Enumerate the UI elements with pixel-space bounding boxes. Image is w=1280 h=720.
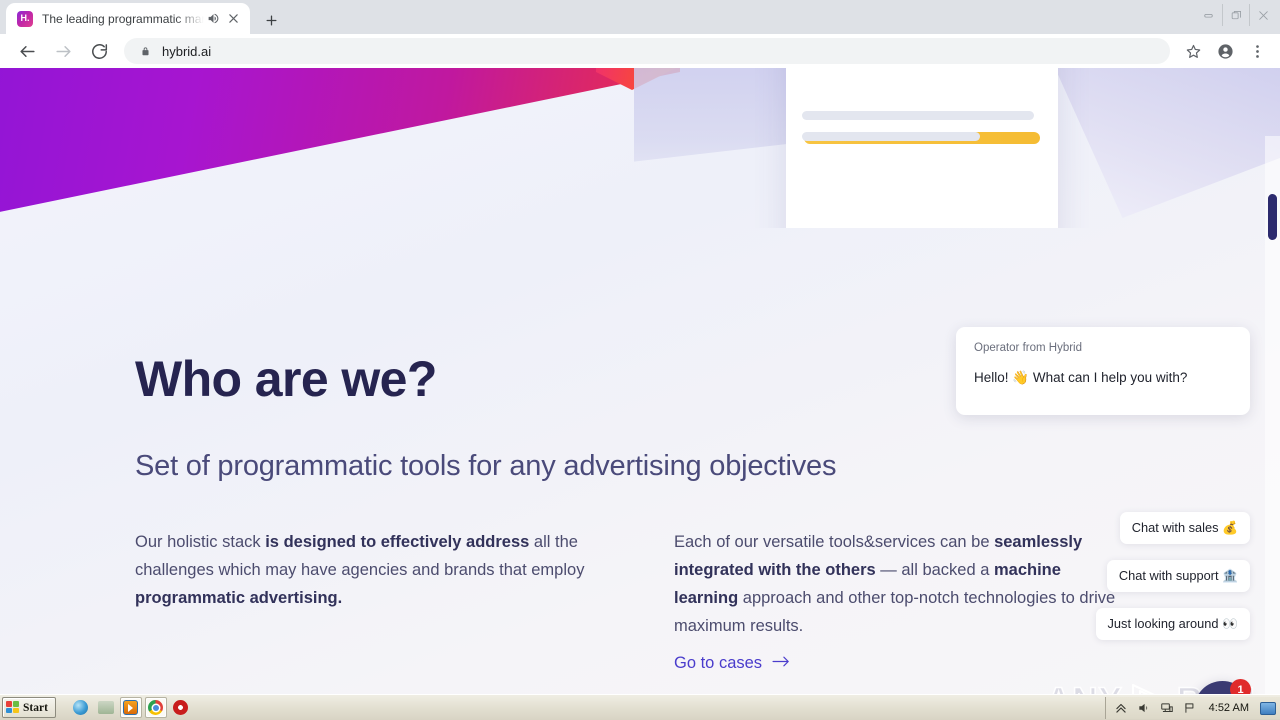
- address-bar[interactable]: hybrid.ai: [124, 38, 1170, 64]
- chat-message-bubble: Operator from Hybrid Hello! 👋 What can I…: [956, 327, 1250, 415]
- volume-icon[interactable]: [1137, 701, 1152, 716]
- internet-explorer-icon[interactable]: [70, 697, 92, 718]
- go-to-cases-link[interactable]: Go to cases: [674, 654, 790, 673]
- browser-chrome: H. The leading programmatic marke: [0, 0, 1280, 68]
- tab-strip: H. The leading programmatic marke: [0, 0, 1280, 34]
- windows-flag-icon: [6, 701, 20, 714]
- bookmark-star-icon[interactable]: [1178, 36, 1208, 66]
- chat-reply-looking-around[interactable]: Just looking around 👀: [1096, 608, 1250, 640]
- text-run-bold: is designed to effectively address: [265, 533, 529, 551]
- browser-toolbar: hybrid.ai: [0, 34, 1280, 68]
- go-to-cases-label: Go to cases: [674, 654, 762, 673]
- text-run: Our holistic stack: [135, 533, 265, 551]
- favicon-hybrid-icon: H.: [17, 11, 33, 27]
- system-tray: 4:52 AM: [1105, 697, 1280, 719]
- watermark-text-left: ANY: [1046, 681, 1123, 694]
- flag-icon[interactable]: [1183, 701, 1198, 716]
- hero-placeholder-line: [802, 111, 1034, 120]
- hero-decoration: [0, 68, 1280, 228]
- three-dot-menu-icon[interactable]: [1242, 36, 1272, 66]
- text-run: — all backed a: [876, 561, 994, 579]
- folder-icon[interactable]: [95, 697, 117, 718]
- play-triangle-icon: [1127, 681, 1173, 694]
- reload-button[interactable]: [84, 36, 114, 66]
- chat-reply-support[interactable]: Chat with support 🏦: [1107, 560, 1250, 592]
- arrow-right-icon: [772, 654, 790, 673]
- windows-taskbar: Start 4: [0, 694, 1280, 720]
- chat-unread-badge: 1: [1230, 679, 1251, 694]
- tab-title: The leading programmatic marke: [42, 12, 204, 26]
- browser-tab[interactable]: H. The leading programmatic marke: [6, 3, 250, 34]
- page-subtitle: Set of programmatic tools for any advert…: [135, 450, 836, 483]
- purple-gradient-shape: [0, 68, 680, 216]
- chat-greeting-message: Hello! 👋 What can I help you with?: [974, 370, 1232, 386]
- chat-reply-sales[interactable]: Chat with sales 💰: [1120, 512, 1250, 544]
- hero-card: [786, 68, 1058, 228]
- chrome-icon[interactable]: [145, 697, 167, 718]
- window-controls: [1195, 0, 1276, 30]
- back-button[interactable]: [12, 36, 42, 66]
- chat-operator-name: Operator from Hybrid: [974, 342, 1232, 354]
- network-icon[interactable]: [1160, 701, 1175, 716]
- start-button-label: Start: [23, 702, 48, 714]
- media-player-icon[interactable]: [120, 697, 142, 718]
- page-scrollbar[interactable]: [1265, 136, 1280, 694]
- show-hidden-icons-icon[interactable]: [1114, 701, 1129, 716]
- forward-button[interactable]: [48, 36, 78, 66]
- lavender-shape-right: [1055, 68, 1280, 218]
- body-paragraph-right: Each of our versatile tools&services can…: [674, 528, 1120, 640]
- speaker-icon[interactable]: [204, 10, 222, 28]
- lock-icon: [138, 44, 152, 58]
- page-viewport: Who are we? Set of programmatic tools fo…: [0, 68, 1280, 694]
- scrollbar-thumb[interactable]: [1268, 194, 1277, 240]
- start-button[interactable]: Start: [2, 697, 56, 718]
- taskbar-clock[interactable]: 4:52 AM: [1206, 702, 1252, 714]
- hero-placeholder-line: [802, 132, 980, 141]
- show-desktop-icon[interactable]: [1260, 702, 1276, 715]
- body-paragraph-left: Our holistic stack is designed to effect…: [135, 528, 595, 612]
- opera-icon[interactable]: [170, 697, 192, 718]
- restore-button[interactable]: [1222, 4, 1249, 26]
- new-tab-button[interactable]: [258, 7, 284, 33]
- url-text: hybrid.ai: [162, 44, 211, 59]
- quick-launch-bar: [70, 697, 192, 718]
- text-run: approach and other top-notch technologie…: [674, 589, 1115, 635]
- text-run: Each of our versatile tools&services can…: [674, 533, 994, 551]
- text-run-bold: programmatic advertising.: [135, 589, 342, 607]
- minimize-button[interactable]: [1195, 4, 1222, 26]
- close-button[interactable]: [1249, 4, 1276, 26]
- tab-close-icon[interactable]: [224, 10, 242, 28]
- profile-avatar-icon[interactable]: [1210, 36, 1240, 66]
- page-title: Who are we?: [135, 350, 437, 408]
